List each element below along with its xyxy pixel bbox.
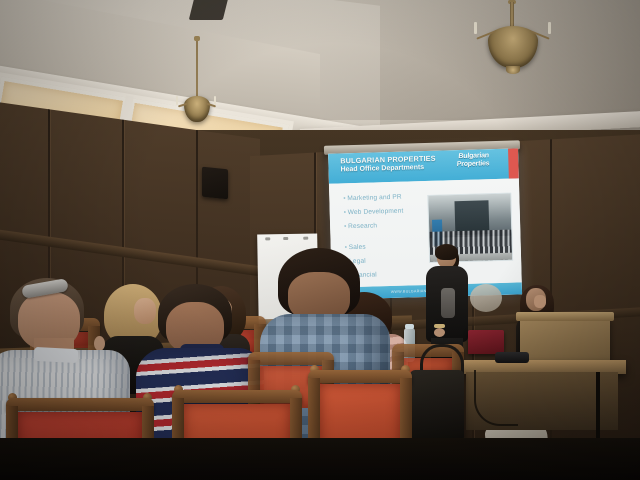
chair-crest-rail	[308, 370, 412, 383]
chair-crest-rail	[6, 398, 154, 411]
slide-title-block: BULGARIAN PROPERTIES Head Office Departm…	[328, 151, 436, 174]
audience-person-back	[470, 284, 502, 318]
water-bottle-cap	[405, 324, 414, 329]
flipchart-clip	[265, 237, 270, 240]
flipchart-clip	[303, 237, 308, 240]
chair-crest-rail	[172, 390, 302, 403]
chandelier-rod	[196, 41, 198, 99]
bullet-item: •Research	[344, 221, 440, 231]
wall-speaker-icon	[202, 167, 228, 200]
chandelier-finial	[506, 66, 520, 74]
floor	[0, 438, 640, 480]
bullet-item: •Web Development	[344, 207, 440, 217]
person-face	[534, 295, 546, 308]
slide-subtitle: Head Office Departments	[340, 164, 436, 174]
logo-line-2: Properties	[442, 159, 505, 168]
ceiling-vent	[189, 0, 229, 20]
shirt-collar	[34, 347, 79, 363]
presenter-hair	[435, 244, 458, 260]
presenter-jacket	[426, 266, 468, 342]
presenter-shirt	[441, 288, 455, 318]
bullet-label: Research	[348, 222, 377, 230]
bullet-label: Marketing and PR	[347, 194, 402, 203]
person-ear	[94, 336, 105, 351]
chandelier-candle	[548, 22, 551, 34]
bullet-label: Web Development	[348, 208, 404, 217]
presentation-room-photo: BULGARIAN PROPERTIES Head Office Departm…	[0, 0, 640, 480]
chandelier-candle	[214, 96, 216, 105]
power-cable	[474, 370, 518, 426]
bullet-item: •Marketing and PR	[343, 193, 439, 203]
lectern-top	[516, 312, 614, 321]
slide-accent-bar	[508, 148, 519, 178]
person-hair	[470, 284, 502, 312]
presenter-hand	[434, 328, 445, 337]
bulgarian-properties-logo: Bulgarian Properties	[442, 152, 505, 169]
chandelier-candle	[176, 96, 178, 105]
flipchart-clip	[283, 237, 288, 240]
projector	[495, 352, 529, 363]
black-bag	[410, 370, 464, 442]
red-laptop	[468, 330, 504, 354]
chandelier-candle	[474, 22, 477, 34]
